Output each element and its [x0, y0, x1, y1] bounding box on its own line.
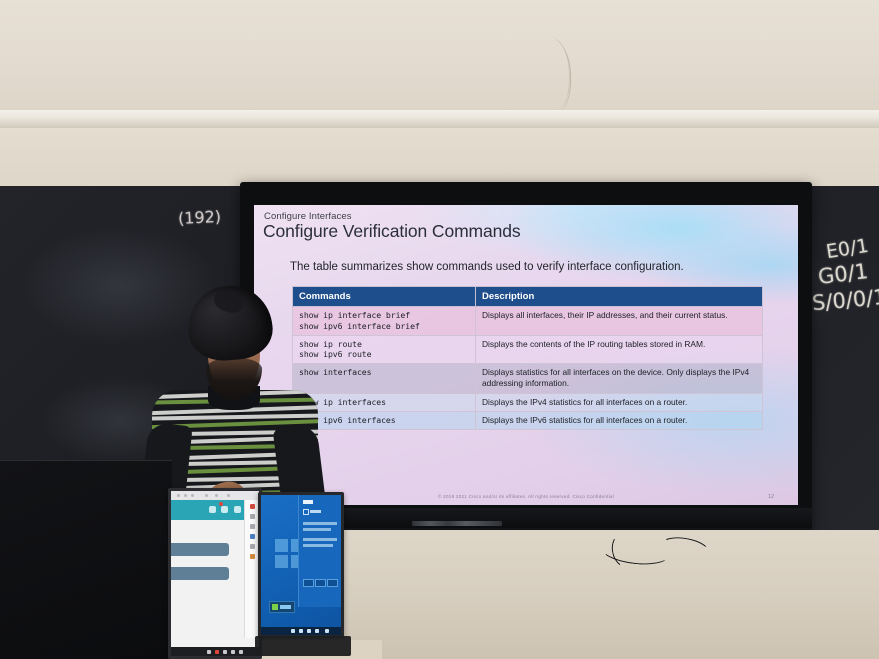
header-icon-three[interactable] — [234, 506, 241, 513]
table-row: show interfaces Displays statistics for … — [293, 364, 763, 393]
cell-description: Displays the IPv4 statistics for all int… — [476, 393, 763, 411]
cell-description: Displays statistics for all interfaces o… — [476, 364, 763, 393]
display-indicator-lights — [412, 521, 502, 526]
verification-commands-table: Commands Description show ip interface b… — [292, 286, 763, 430]
cell-description: Displays the contents of the IP routing … — [476, 335, 763, 364]
taskbar-icon-one[interactable] — [207, 650, 211, 654]
left-laptop-screen — [171, 491, 259, 656]
table-header-row: Commands Description — [293, 287, 763, 307]
taskbar-icon-two[interactable] — [215, 650, 219, 654]
dialog-title — [303, 500, 313, 504]
right-laptop — [258, 492, 344, 638]
dialog-button-three[interactable] — [327, 579, 338, 587]
table-row: show ip interfaces Displays the IPv4 sta… — [293, 393, 763, 411]
content-bar-one[interactable] — [171, 543, 229, 556]
sidebar-icon-two[interactable] — [250, 514, 255, 519]
extension-icon[interactable] — [227, 494, 230, 497]
dialog-button-two[interactable] — [315, 579, 326, 587]
sidebar-icon-four[interactable] — [250, 534, 255, 539]
slide-page-number: 12 — [768, 494, 774, 500]
taskbar-icon-one[interactable] — [291, 629, 295, 633]
dialog-text-line — [303, 522, 337, 525]
header-icon-two[interactable] — [221, 506, 228, 513]
taskbar-icon-three[interactable] — [307, 629, 311, 633]
column-header-description: Description — [476, 287, 763, 307]
chalk-note-192: (192) — [178, 207, 222, 228]
left-laptop — [168, 488, 262, 659]
menu-icon[interactable] — [205, 494, 208, 497]
right-laptop-screen — [261, 495, 341, 635]
dialog-text-line — [303, 528, 331, 531]
taskbar-icon-five[interactable] — [239, 650, 243, 654]
dark-monitor — [0, 460, 172, 659]
table-row: show ip route show ipv6 route Displays t… — [293, 335, 763, 364]
tray-notification[interactable] — [269, 601, 295, 613]
reload-icon[interactable] — [191, 494, 194, 497]
taskbar-icon-four[interactable] — [231, 650, 235, 654]
system-dialog[interactable] — [298, 495, 341, 607]
cell-description: Displays all interfaces, their IP addres… — [476, 307, 763, 336]
left-laptop-taskbar[interactable] — [171, 647, 259, 656]
dialog-text-line — [303, 544, 333, 547]
sidebar-icon-three[interactable] — [250, 524, 255, 529]
windows-taskbar[interactable] — [261, 627, 341, 635]
taskbar-icon-two[interactable] — [299, 629, 303, 633]
table-row: show ip interface brief show ipv6 interf… — [293, 307, 763, 336]
cell-description: Displays the IPv6 statistics for all int… — [476, 411, 763, 429]
content-bar-two[interactable] — [171, 567, 229, 580]
classroom-scene: (192) E0/1 G0/1 S/0/0/1 Configure Interf… — [0, 0, 879, 659]
slide-lead-text: The table summarizes show commands used … — [290, 261, 684, 273]
header-icon-one[interactable] — [209, 506, 216, 513]
browser-toolbar[interactable] — [171, 491, 259, 500]
nav-forward-icon[interactable] — [184, 494, 187, 497]
wall-upper — [0, 0, 879, 112]
sidebar-icon-one[interactable] — [250, 504, 255, 509]
wall-display: Configure Interfaces Configure Verificat… — [240, 182, 812, 532]
tray-text — [280, 605, 291, 609]
taskbar-icon-four[interactable] — [315, 629, 319, 633]
dialog-checkbox-label — [310, 510, 321, 513]
wall-rail — [0, 110, 879, 129]
wall-lower — [0, 128, 879, 188]
table-row: show ipv6 interfaces Displays the IPv6 s… — [293, 411, 763, 429]
app-header-bar — [171, 500, 245, 520]
nav-back-icon[interactable] — [177, 494, 180, 497]
dialog-button-one[interactable] — [303, 579, 314, 587]
slide-title: Configure Verification Commands — [263, 221, 521, 242]
tab-icon[interactable] — [215, 494, 218, 497]
display-screen: Configure Interfaces Configure Verificat… — [254, 205, 798, 505]
external-keyboard[interactable] — [255, 636, 351, 656]
dialog-checkbox[interactable] — [303, 509, 309, 515]
sidebar-icon-five[interactable] — [250, 544, 255, 549]
presentation-slide: Configure Interfaces Configure Verificat… — [254, 205, 798, 505]
taskbar-icon-three[interactable] — [223, 650, 227, 654]
dialog-text-line — [303, 538, 337, 541]
sidebar-icon-six[interactable] — [250, 554, 255, 559]
browser-sidebar[interactable] — [244, 500, 259, 638]
tray-status-indicator — [272, 604, 278, 610]
taskbar-icon-five[interactable] — [325, 629, 329, 633]
